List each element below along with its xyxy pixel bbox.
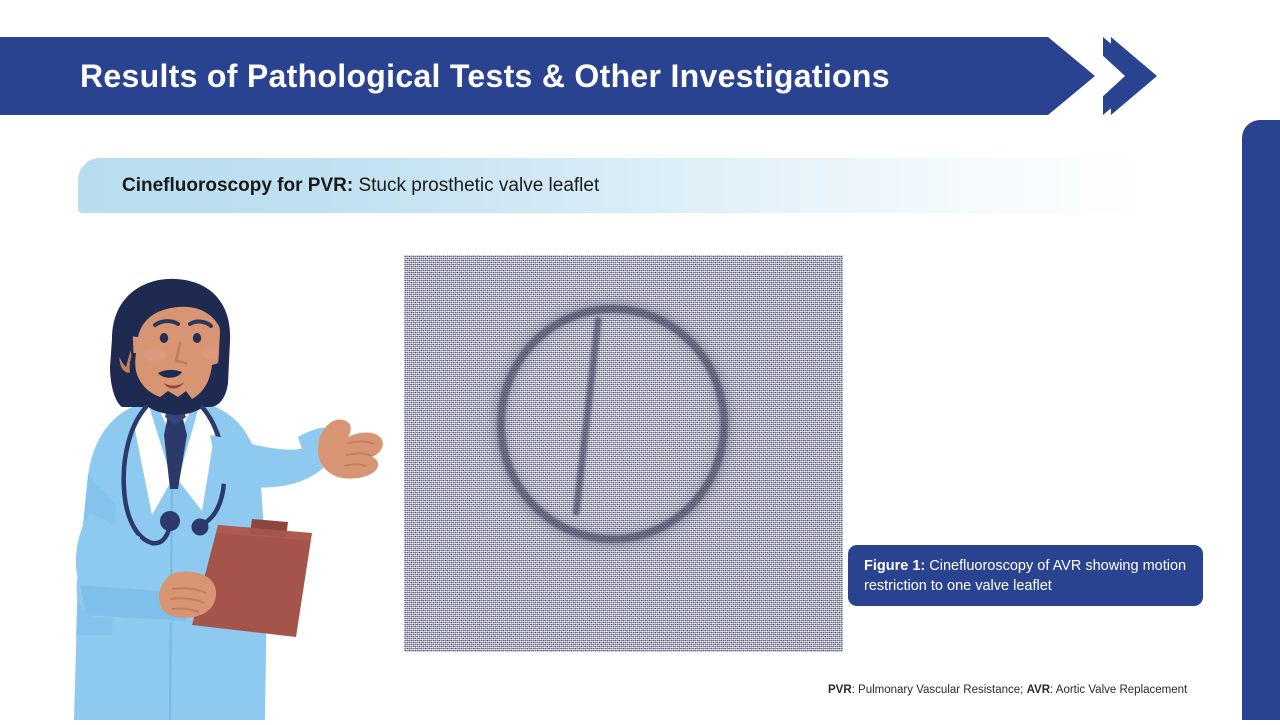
doctor-eye-left: [160, 333, 168, 343]
footnote-definition-pvr: : Pulmonary Vascular Resistance;: [852, 684, 1027, 696]
doctor-illustration: [60, 275, 400, 720]
footnote-abbr-avr: AVR: [1027, 684, 1050, 696]
footnote-definition-avr: : Aortic Valve Replacement: [1050, 684, 1187, 696]
right-edge-accent-bar: [1242, 120, 1280, 720]
doctor-head: [110, 279, 230, 415]
stethoscope-bell: [192, 519, 209, 536]
doctor-eye-right: [193, 333, 201, 343]
subtitle-label: Cinefluoroscopy for PVR:: [122, 175, 353, 196]
footnote-abbr-pvr: PVR: [828, 684, 852, 696]
figure-caption-text: Figure 1: Cinefluoroscopy of AVR showing…: [848, 556, 1203, 596]
fluoroscopy-grain-overlay: [404, 255, 843, 652]
chevron-right-icon-secondary: [1111, 37, 1159, 115]
figure-caption-label: Figure 1:: [864, 558, 925, 574]
figure-caption-box: Figure 1: Cinefluoroscopy of AVR showing…: [848, 545, 1203, 606]
header-banner: Results of Pathological Tests & Other In…: [0, 37, 1095, 115]
doctor-gripping-hand: [159, 572, 216, 618]
subtitle-text: Cinefluoroscopy for PVR: Stuck prostheti…: [122, 175, 599, 197]
abbreviations-footnote: PVR: Pulmonary Vascular Resistance; AVR:…: [828, 684, 1187, 696]
fluoroscopy-image: [404, 255, 843, 652]
stethoscope-chestpiece: [160, 511, 180, 531]
page-title: Results of Pathological Tests & Other In…: [80, 58, 890, 95]
subtitle-description: Stuck prosthetic valve leaflet: [353, 175, 599, 196]
doctor-open-hand: [318, 420, 383, 479]
subtitle-bar: Cinefluoroscopy for PVR: Stuck prostheti…: [78, 158, 1153, 213]
